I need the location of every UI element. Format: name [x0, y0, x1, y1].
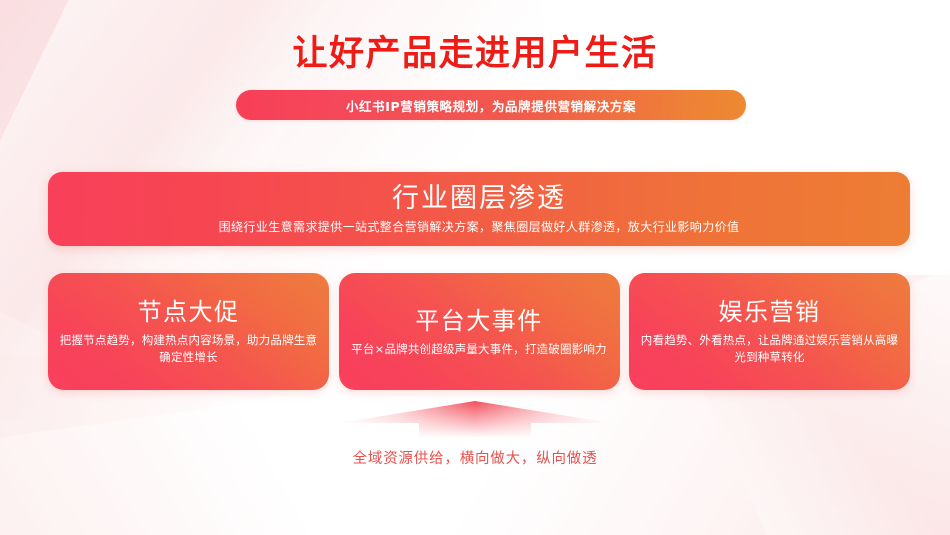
strategy-card-platform-event[interactable]: 平台大事件 平台×品牌共创超级声量大事件，打造破圈影响力 [339, 273, 620, 390]
banner-title: 行业圈层渗透 [392, 182, 566, 216]
strategy-card-group: 节点大促 把握节点趋势，构建热点内容场景，助力品牌生意确定性增长 平台大事件 平… [48, 273, 910, 390]
card-title: 平台大事件 [415, 306, 543, 337]
banner-description: 围绕行业生意需求提供一站式整合营销解决方案，聚焦圈层做好人群渗透，放大行业影响力… [219, 219, 740, 236]
strategy-card-node-promotion[interactable]: 节点大促 把握节点趋势，构建热点内容场景，助力品牌生意确定性增长 [48, 273, 329, 390]
header: 让好产品走进用户生活 [0, 32, 950, 76]
card-title: 娱乐营销 [719, 297, 821, 328]
page-title: 让好产品走进用户生活 [0, 32, 950, 76]
subtitle-pill: 小红书IP营销策略规划，为品牌提供营销解决方案 [236, 90, 746, 120]
industry-penetration-banner[interactable]: 行业圈层渗透 围绕行业生意需求提供一站式整合营销解决方案，聚焦圈层做好人群渗透，… [48, 172, 910, 246]
card-description: 平台×品牌共创超级声量大事件，打造破圈影响力 [351, 341, 607, 358]
strategy-card-entertainment-marketing[interactable]: 娱乐营销 内看趋势、外看热点，让品牌通过娱乐营销从高曝光到种草转化 [629, 273, 910, 390]
card-title: 节点大促 [138, 297, 240, 328]
arrow-up-icon [335, 398, 615, 438]
card-description: 内看趋势、外看热点，让品牌通过娱乐营销从高曝光到种草转化 [637, 332, 902, 366]
footer-caption: 全域资源供给，横向做大，纵向做透 [0, 448, 950, 470]
slide-canvas: 让好产品走进用户生活 小红书IP营销策略规划，为品牌提供营销解决方案 行业圈层渗… [0, 0, 950, 535]
subtitle-pill-label: 小红书IP营销策略规划，为品牌提供营销解决方案 [346, 96, 636, 115]
card-description: 把握节点趋势，构建热点内容场景，助力品牌生意确定性增长 [56, 332, 321, 366]
